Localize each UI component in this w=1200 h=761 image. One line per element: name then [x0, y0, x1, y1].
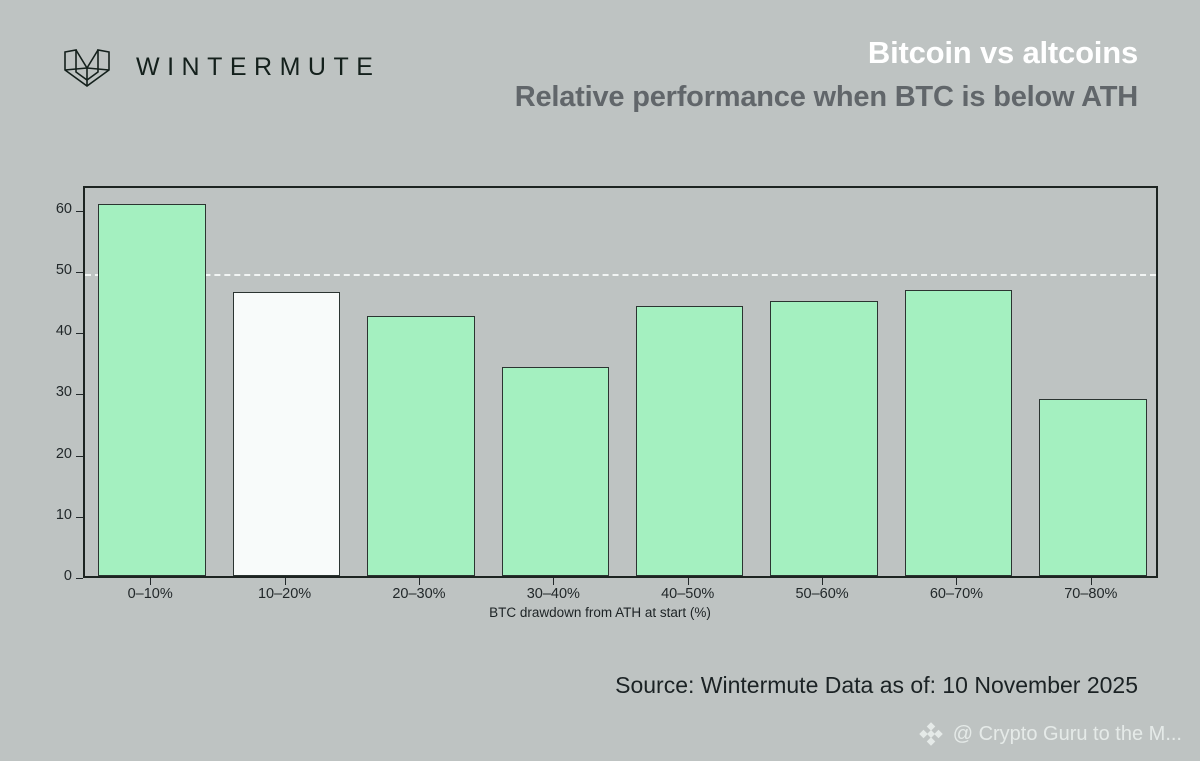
bar-50-60-[interactable]	[770, 301, 878, 576]
y-tick-label-30: 30	[26, 384, 72, 400]
y-tick-mark-50	[76, 272, 83, 273]
y-tick-label-40: 40	[26, 323, 72, 339]
title-block: Bitcoin vs altcoins Relative performance…	[515, 34, 1138, 116]
y-tick-mark-60	[76, 211, 83, 212]
binance-diamond-icon	[918, 721, 944, 747]
x-tick-mark-5	[822, 578, 823, 585]
wintermute-crown-icon	[60, 46, 114, 88]
bar-70-80-[interactable]	[1039, 399, 1147, 576]
chart-subtitle: Relative performance when BTC is below A…	[515, 79, 1138, 117]
bar-20-30-[interactable]	[367, 316, 475, 576]
x-tick-label-3: 30–40%	[493, 586, 613, 602]
y-tick-label-10: 10	[26, 507, 72, 523]
source-note: Source: Wintermute Data as of: 10 Novemb…	[615, 672, 1138, 699]
x-tick-label-6: 60–70%	[896, 586, 1016, 602]
y-tick-label-0: 0	[26, 568, 72, 584]
x-tick-label-0: 0–10%	[90, 586, 210, 602]
bar-10-20-[interactable]	[233, 292, 341, 576]
x-tick-label-7: 70–80%	[1031, 586, 1151, 602]
chart-title: Bitcoin vs altcoins	[515, 34, 1138, 73]
brand-lockup: WINTERMUTE	[60, 46, 380, 88]
bar-30-40-[interactable]	[502, 367, 610, 576]
bar-0-10-[interactable]	[98, 204, 206, 576]
bars-container	[85, 188, 1156, 576]
plot-area	[83, 186, 1158, 578]
y-tick-mark-30	[76, 394, 83, 395]
bar-40-50-[interactable]	[636, 306, 744, 576]
bar-60-70-[interactable]	[905, 290, 1013, 576]
y-tick-label-60: 60	[26, 201, 72, 217]
watermark-text: @ Crypto Guru to the M...	[953, 723, 1182, 746]
x-tick-mark-3	[553, 578, 554, 585]
y-tick-label-20: 20	[26, 446, 72, 462]
x-tick-label-5: 50–60%	[762, 586, 882, 602]
header: WINTERMUTE Bitcoin vs altcoins Relative …	[0, 0, 1200, 150]
x-axis-label: BTC drawdown from ATH at start (%)	[0, 605, 1200, 620]
y-tick-mark-10	[76, 517, 83, 518]
watermark: @ Crypto Guru to the M...	[918, 721, 1182, 747]
x-tick-mark-1	[285, 578, 286, 585]
brand-name: WINTERMUTE	[136, 53, 380, 82]
x-tick-label-2: 20–30%	[359, 586, 479, 602]
y-tick-label-50: 50	[26, 262, 72, 278]
x-tick-mark-7	[1091, 578, 1092, 585]
x-tick-mark-2	[419, 578, 420, 585]
x-tick-mark-4	[688, 578, 689, 585]
x-tick-mark-6	[956, 578, 957, 585]
y-tick-mark-40	[76, 333, 83, 334]
reference-line-50	[85, 274, 1156, 276]
x-tick-label-4: 40–50%	[628, 586, 748, 602]
x-tick-label-1: 10–20%	[225, 586, 345, 602]
y-tick-mark-20	[76, 456, 83, 457]
y-tick-mark-0	[76, 578, 83, 579]
x-tick-mark-0	[150, 578, 151, 585]
